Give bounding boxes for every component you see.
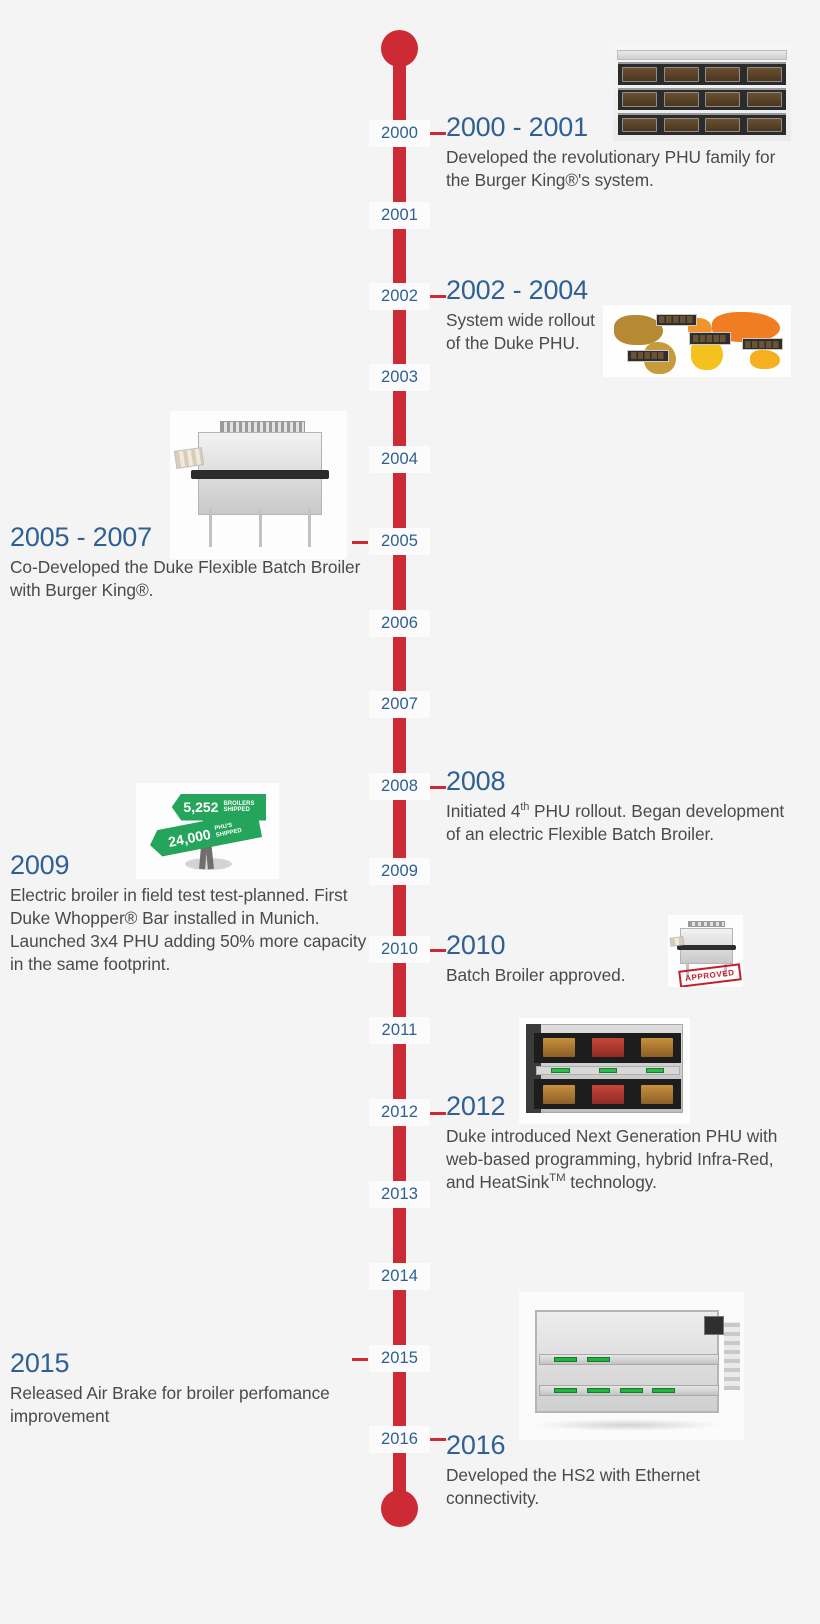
connector-dash-2005 <box>352 541 368 544</box>
ngphu-food-pan <box>641 1038 673 1058</box>
broiler-top-grate <box>688 921 726 927</box>
year-chip-2004[interactable]: 2004 <box>369 446 430 473</box>
year-chip-2010[interactable]: 2010 <box>369 936 430 963</box>
timeline-end-dot <box>381 1490 418 1527</box>
year-chip-2000[interactable]: 2000 <box>369 120 430 147</box>
year-chip-2013[interactable]: 2013 <box>369 1181 430 1208</box>
phu-top-panel <box>617 50 788 61</box>
entry-heading-2009: 2009 <box>10 852 370 879</box>
entry-2016: 2016 Developed the HS2 with Ethernet con… <box>446 1432 796 1510</box>
signpost-caption-phus: PHU'S SHIPPED <box>214 822 242 839</box>
hs2-control-panel <box>704 1316 724 1335</box>
ngphu-food-pan <box>543 1038 575 1058</box>
hs2-led-indicator <box>554 1357 577 1362</box>
year-chip-2007[interactable]: 2007 <box>369 691 430 718</box>
entry-heading-2010: 2010 <box>446 932 796 959</box>
entry-heading-2002-2004: 2002 - 2004 <box>446 277 606 304</box>
signpost-caption-broilers: BROILERS SHIPPED <box>223 801 254 814</box>
entry-body-2016: Developed the HS2 with Ethernet connecti… <box>446 1464 796 1510</box>
hs2-vent-grille <box>724 1322 740 1390</box>
phu-pan <box>664 67 699 82</box>
ngphu-deck-upper <box>534 1033 681 1063</box>
map-region-oceania <box>750 350 780 369</box>
year-chip-2006[interactable]: 2006 <box>369 610 430 637</box>
year-chip-2002[interactable]: 2002 <box>369 283 430 310</box>
connector-dash-2002 <box>430 295 446 298</box>
phu-pan <box>622 92 657 107</box>
entry-body-2008: Initiated 4th PHU rollout. Began develop… <box>446 800 796 846</box>
year-chip-2005[interactable]: 2005 <box>369 528 430 555</box>
connector-dash-2000 <box>430 132 446 135</box>
year-chip-2016[interactable]: 2016 <box>369 1426 430 1453</box>
hs2-shelf-upper <box>539 1354 719 1364</box>
signpost-caption-line2: SHIPPED <box>223 807 249 813</box>
entry-body-2000-2001: Developed the revolutionary PHU family f… <box>446 146 796 192</box>
hs2-led-indicator <box>652 1388 675 1393</box>
year-chip-2015[interactable]: 2015 <box>369 1345 430 1372</box>
entry-2010: 2010 Batch Broiler approved. <box>446 932 796 987</box>
ngphu-led-display <box>551 1068 569 1073</box>
map-phu-marker <box>689 332 730 344</box>
broiler-conveyor-rail <box>191 470 329 479</box>
year-chip-2012[interactable]: 2012 <box>369 1099 430 1126</box>
entry-body-2012: Duke introduced Next Generation PHU with… <box>446 1125 796 1194</box>
hs2-led-indicator <box>587 1388 610 1393</box>
entry-body-2002-2004: System wide rollout of the Duke PHU. <box>446 309 606 355</box>
map-phu-marker <box>656 314 697 326</box>
entry-heading-2000-2001: 2000 - 2001 <box>446 114 796 141</box>
map-phu-marker <box>742 338 783 350</box>
ngphu-food-pan <box>592 1038 624 1058</box>
hs2-led-indicator <box>587 1357 610 1362</box>
hs2-led-indicator <box>620 1388 643 1393</box>
ngphu-led-display <box>599 1068 617 1073</box>
phu-pan <box>747 92 782 107</box>
connector-dash-2012 <box>430 1112 446 1115</box>
entry-body-2015: Released Air Brake for broiler perfomanc… <box>10 1382 370 1428</box>
entry-2012: 2012 Duke introduced Next Generation PHU… <box>446 1093 796 1194</box>
entry-body-2012-post: technology. <box>566 1172 657 1192</box>
timeline-infographic: 2000 2001 2002 2003 2004 2005 2006 2007 … <box>0 0 820 1624</box>
entry-2000-2001: 2000 - 2001 Developed the revolutionary … <box>446 114 796 192</box>
year-chip-2009[interactable]: 2009 <box>369 858 430 885</box>
entry-2015: 2015 Released Air Brake for broiler perf… <box>10 1350 370 1428</box>
phu-pan <box>705 67 740 82</box>
ordinal-suffix: th <box>520 801 529 813</box>
year-chip-2008[interactable]: 2008 <box>369 773 430 800</box>
entry-heading-2005-2007: 2005 - 2007 <box>10 524 370 551</box>
signpost-number-broilers: 5,252 <box>183 799 218 815</box>
entry-2005-2007: 2005 - 2007 Co-Developed the Duke Flexib… <box>10 524 370 602</box>
world-map-rollout-photo <box>603 305 791 377</box>
phu-pan <box>622 67 657 82</box>
signpost-caption-line1: BROILERS <box>223 801 254 807</box>
entry-body-2008-pre: Initiated 4 <box>446 801 520 821</box>
ngphu-led-display <box>646 1068 664 1073</box>
ngphu-control-strip <box>536 1066 680 1076</box>
entry-2002-2004: 2002 - 2004 System wide rollout of the D… <box>446 277 606 355</box>
phu-pan <box>747 67 782 82</box>
year-chip-2014[interactable]: 2014 <box>369 1263 430 1290</box>
hs2-led-indicator <box>554 1388 577 1393</box>
map-phu-marker <box>627 350 668 362</box>
entry-heading-2008: 2008 <box>446 768 796 795</box>
hs2-drop-shadow <box>533 1419 722 1431</box>
phu-shelf-2 <box>618 88 785 110</box>
connector-dash-2015 <box>352 1358 368 1361</box>
year-chip-2003[interactable]: 2003 <box>369 364 430 391</box>
entry-2008: 2008 Initiated 4th PHU rollout. Began de… <box>446 768 796 846</box>
phu-shelf-1 <box>618 62 785 84</box>
year-chip-2001[interactable]: 2001 <box>369 202 430 229</box>
year-chip-2011[interactable]: 2011 <box>369 1017 430 1044</box>
connector-dash-2016 <box>430 1438 446 1441</box>
hs2-shelf-lower <box>539 1385 719 1395</box>
phu-pan <box>705 92 740 107</box>
entry-body-2010: Batch Broiler approved. <box>446 964 796 987</box>
entry-body-2005-2007: Co-Developed the Duke Flexible Batch Bro… <box>10 556 370 602</box>
entry-body-2009: Electric broiler in field test test-plan… <box>10 884 370 976</box>
entry-heading-2016: 2016 <box>446 1432 796 1459</box>
hs2-ethernet-unit-photo <box>519 1292 744 1440</box>
connector-dash-2010 <box>430 949 446 952</box>
entry-heading-2015: 2015 <box>10 1350 370 1377</box>
entry-2009: 2009 Electric broiler in field test test… <box>10 852 370 976</box>
signpost-number-phus: 24,000 <box>167 826 212 850</box>
phu-pan <box>664 92 699 107</box>
entry-heading-2012: 2012 <box>446 1093 796 1120</box>
trademark-symbol: TM <box>549 1172 565 1184</box>
connector-dash-2008 <box>430 786 446 789</box>
